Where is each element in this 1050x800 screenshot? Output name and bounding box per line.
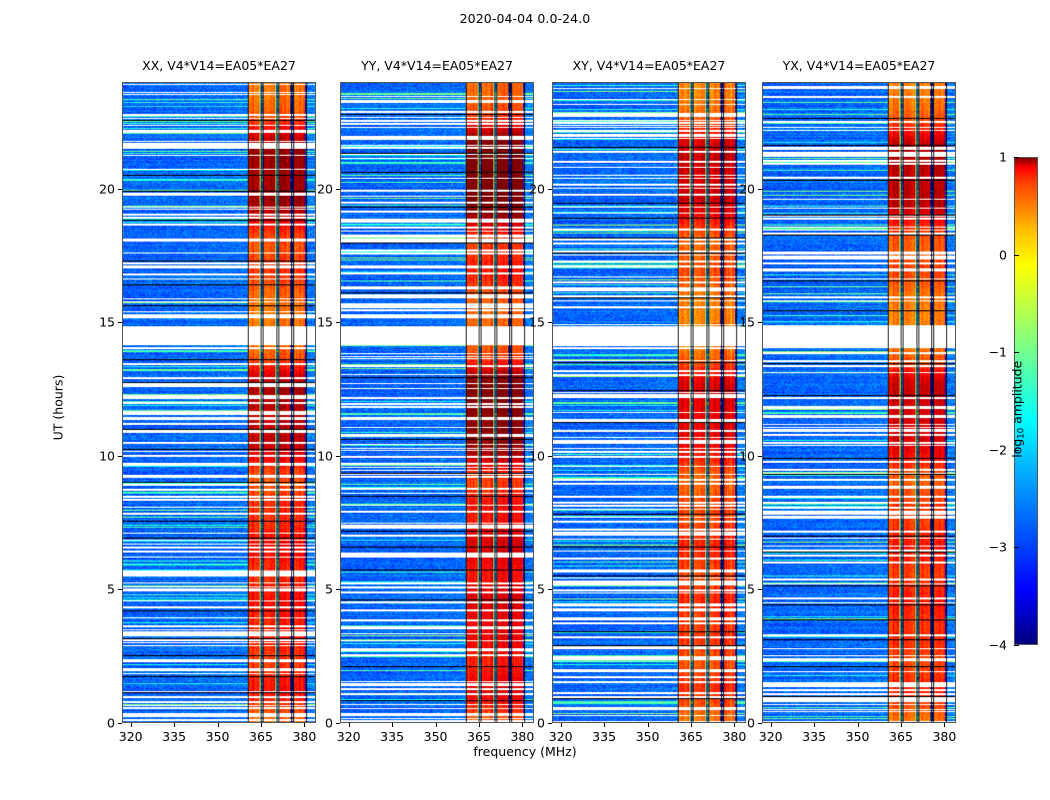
x-tick-yy-335: [392, 723, 393, 727]
y-tick-label-yx-5: 5: [722, 582, 755, 597]
x-tick-xx-350: [218, 723, 219, 727]
y-tick-xx-15: [118, 322, 122, 323]
heatmap-yy: [341, 83, 533, 722]
colorbar-tick-0: [1014, 645, 1019, 646]
y-tick-xx-0: [118, 723, 122, 724]
y-tick-label-xx-0: 0: [82, 716, 115, 731]
y-tick-xx-20: [118, 189, 122, 190]
y-tick-label-xx-10: 10: [82, 448, 115, 463]
x-tick-label-xy-335: 335: [592, 729, 616, 744]
colorbar-tick-1: [1014, 547, 1019, 548]
x-tick-yy-320: [349, 723, 350, 727]
y-tick-label-yy-20: 20: [300, 181, 333, 196]
y-tick-yx-5: [758, 589, 762, 590]
y-tick-label-yy-10: 10: [300, 448, 333, 463]
y-tick-label-yy-15: 15: [300, 315, 333, 330]
x-tick-yx-335: [814, 723, 815, 727]
y-tick-xy-0: [548, 723, 552, 724]
x-tick-label-yx-350: 350: [846, 729, 870, 744]
x-tick-yx-365: [901, 723, 902, 727]
x-tick-label-xy-365: 365: [679, 729, 703, 744]
x-tick-label-xy-350: 350: [636, 729, 660, 744]
colorbar-tick-label-5: 1: [972, 150, 1007, 165]
y-tick-yx-0: [758, 723, 762, 724]
y-tick-yx-20: [758, 189, 762, 190]
y-tick-yy-10: [336, 456, 340, 457]
x-tick-xx-365: [261, 723, 262, 727]
y-tick-xy-15: [548, 322, 552, 323]
y-tick-xy-5: [548, 589, 552, 590]
x-tick-xy-365: [691, 723, 692, 727]
x-axis-label: frequency (MHz): [0, 744, 1050, 759]
colorbar-tick-label-2: −2: [972, 442, 1007, 457]
heatmap-yx: [763, 83, 955, 722]
panel-xy[interactable]: [552, 82, 746, 723]
colorbar-label-text: log10 amplitude: [1010, 361, 1025, 458]
colorbar-tick-label-0: −4: [972, 638, 1007, 653]
y-tick-xy-10: [548, 456, 552, 457]
y-tick-yx-10: [758, 456, 762, 457]
y-tick-xx-10: [118, 456, 122, 457]
y-tick-label-yx-15: 15: [722, 315, 755, 330]
x-tick-label-yy-335: 335: [380, 729, 404, 744]
x-tick-xx-320: [131, 723, 132, 727]
x-tick-yy-350: [436, 723, 437, 727]
colorbar-label: log10 amplitude: [1010, 329, 1027, 489]
colorbar-tick-label-3: −1: [972, 345, 1007, 360]
y-tick-label-xx-20: 20: [82, 181, 115, 196]
figure-suptitle: 2020-04-04 0.0-24.0: [0, 11, 1050, 26]
colorbar-tick-4: [1014, 255, 1019, 256]
panel-yy[interactable]: [340, 82, 534, 723]
x-tick-label-yx-380: 380: [932, 729, 956, 744]
y-tick-label-yx-0: 0: [722, 716, 755, 731]
x-tick-label-xx-350: 350: [206, 729, 230, 744]
x-tick-label-yy-365: 365: [467, 729, 491, 744]
x-tick-label-yy-350: 350: [424, 729, 448, 744]
panel-xx[interactable]: [122, 82, 316, 723]
heatmap-xy: [553, 83, 745, 722]
y-tick-yx-15: [758, 322, 762, 323]
y-tick-label-xy-20: 20: [512, 181, 545, 196]
y-tick-label-yy-0: 0: [300, 716, 333, 731]
y-tick-yy-20: [336, 189, 340, 190]
y-tick-label-xy-15: 15: [512, 315, 545, 330]
x-tick-label-xx-320: 320: [119, 729, 143, 744]
x-tick-label-yy-320: 320: [337, 729, 361, 744]
y-tick-yy-15: [336, 322, 340, 323]
colorbar-tick-label-4: 0: [972, 247, 1007, 262]
y-tick-label-xy-10: 10: [512, 448, 545, 463]
x-tick-label-xx-380: 380: [292, 729, 316, 744]
x-tick-label-yy-380: 380: [510, 729, 534, 744]
x-tick-xy-335: [604, 723, 605, 727]
x-tick-label-xy-320: 320: [549, 729, 573, 744]
y-tick-yy-5: [336, 589, 340, 590]
x-tick-xx-335: [174, 723, 175, 727]
colorbar-tick-5: [1014, 157, 1019, 158]
y-tick-label-xy-5: 5: [512, 582, 545, 597]
x-tick-xy-320: [561, 723, 562, 727]
x-tick-yx-350: [858, 723, 859, 727]
x-tick-label-xx-365: 365: [249, 729, 273, 744]
y-tick-yy-0: [336, 723, 340, 724]
y-tick-label-xx-5: 5: [82, 582, 115, 597]
x-tick-xy-350: [648, 723, 649, 727]
y-tick-label-yy-5: 5: [300, 582, 333, 597]
x-tick-yx-380: [944, 723, 945, 727]
panel-yx[interactable]: [762, 82, 956, 723]
y-tick-xy-20: [548, 189, 552, 190]
x-tick-label-yx-320: 320: [759, 729, 783, 744]
heatmap-xx: [123, 83, 315, 722]
x-tick-label-yx-365: 365: [889, 729, 913, 744]
y-axis-label: UT (hours): [51, 328, 66, 488]
x-tick-label-xy-380: 380: [722, 729, 746, 744]
figure-canvas: 2020-04-04 0.0-24.0 XX, V4*V14=EA05*EA27…: [0, 0, 1050, 800]
x-tick-label-xx-335: 335: [162, 729, 186, 744]
x-tick-label-yx-335: 335: [802, 729, 826, 744]
y-tick-label-xx-15: 15: [82, 315, 115, 330]
x-tick-yx-320: [771, 723, 772, 727]
y-tick-label-xy-0: 0: [512, 716, 545, 731]
x-tick-yy-365: [479, 723, 480, 727]
y-tick-label-yx-10: 10: [722, 448, 755, 463]
colorbar-tick-label-1: −3: [972, 540, 1007, 555]
panel-title-yx: YX, V4*V14=EA05*EA27: [702, 58, 1016, 73]
y-tick-xx-5: [118, 589, 122, 590]
y-tick-label-yx-20: 20: [722, 181, 755, 196]
